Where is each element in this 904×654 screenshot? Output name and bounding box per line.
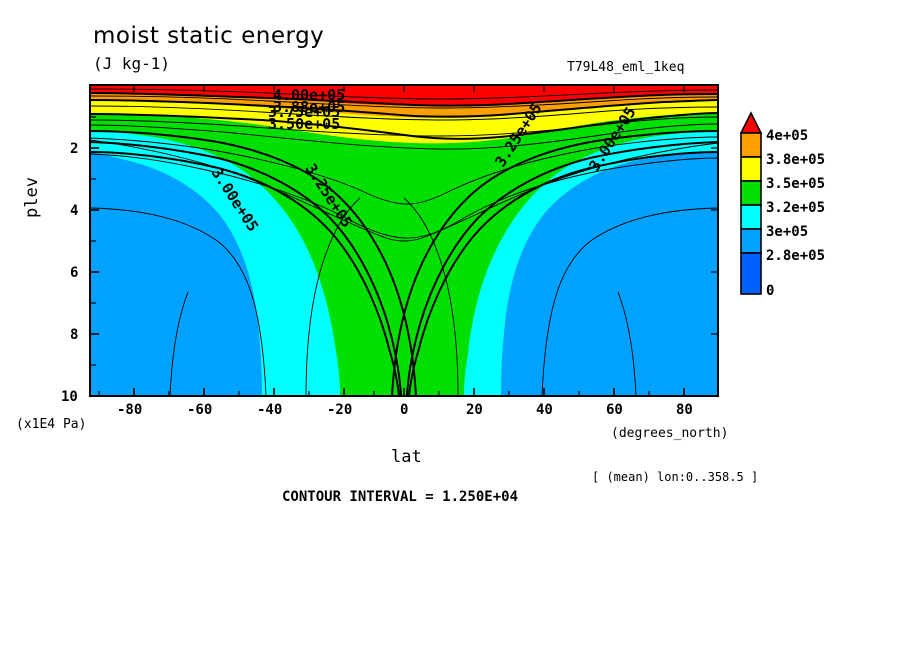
y-tick-label: 10 <box>61 389 78 405</box>
colorbar <box>741 113 761 294</box>
colorbar-label: 2.8e+05 <box>766 248 825 264</box>
y-tick-label: 8 <box>70 327 78 343</box>
colorbar-band-3-2e05 <box>741 181 761 205</box>
x-tick-label: 0 <box>400 402 408 418</box>
colorbar-band-3-8e05 <box>741 133 761 157</box>
x-tick-label: -60 <box>187 402 212 418</box>
colorbar-band-2-8e05 <box>741 229 761 253</box>
colorbar-label: 4e+05 <box>766 128 808 144</box>
contour-plot-canvas: 4.00e+05 3.88e+05 3.75e+05 3.50e+05 3.00… <box>0 0 904 654</box>
colorbar-band-0 <box>741 253 761 294</box>
colorbar-label: 0 <box>766 283 774 299</box>
colorbar-label: 3.5e+05 <box>766 176 825 192</box>
x-tick-label: 80 <box>676 402 693 418</box>
figure-root: moist static energy (J kg-1) T79L48_eml_… <box>0 0 904 654</box>
x-axis-units: (degrees_north) <box>611 426 728 441</box>
mean-note: [ (mean) lon:0..358.5 ] <box>592 470 758 484</box>
colorbar-label: 3e+05 <box>766 224 808 240</box>
contour-interval-note: CONTOUR INTERVAL = 1.250E+04 <box>282 489 518 505</box>
x-axis-title: lat <box>391 447 422 467</box>
colorbar-label: 3.2e+05 <box>766 200 825 216</box>
y-tick-label: 4 <box>70 203 78 219</box>
x-tick-label: 20 <box>466 402 483 418</box>
x-tick-label: 60 <box>606 402 623 418</box>
contour-label-3-50e05: 3.50e+05 <box>268 115 340 133</box>
colorbar-top-arrow <box>741 113 761 133</box>
colorbar-band-3-5e05 <box>741 157 761 181</box>
x-tick-label: -80 <box>117 402 142 418</box>
y-axis-title: plev <box>22 177 42 218</box>
x-tick-label: 40 <box>536 402 553 418</box>
x-tick-label: -40 <box>257 402 282 418</box>
y-tick-label: 6 <box>70 265 78 281</box>
y-tick-label: 2 <box>70 141 78 157</box>
y-axis-units: (x1E4 Pa) <box>16 417 86 432</box>
x-tick-label: -20 <box>327 402 352 418</box>
colorbar-band-3e05 <box>741 205 761 229</box>
colorbar-label: 3.8e+05 <box>766 152 825 168</box>
